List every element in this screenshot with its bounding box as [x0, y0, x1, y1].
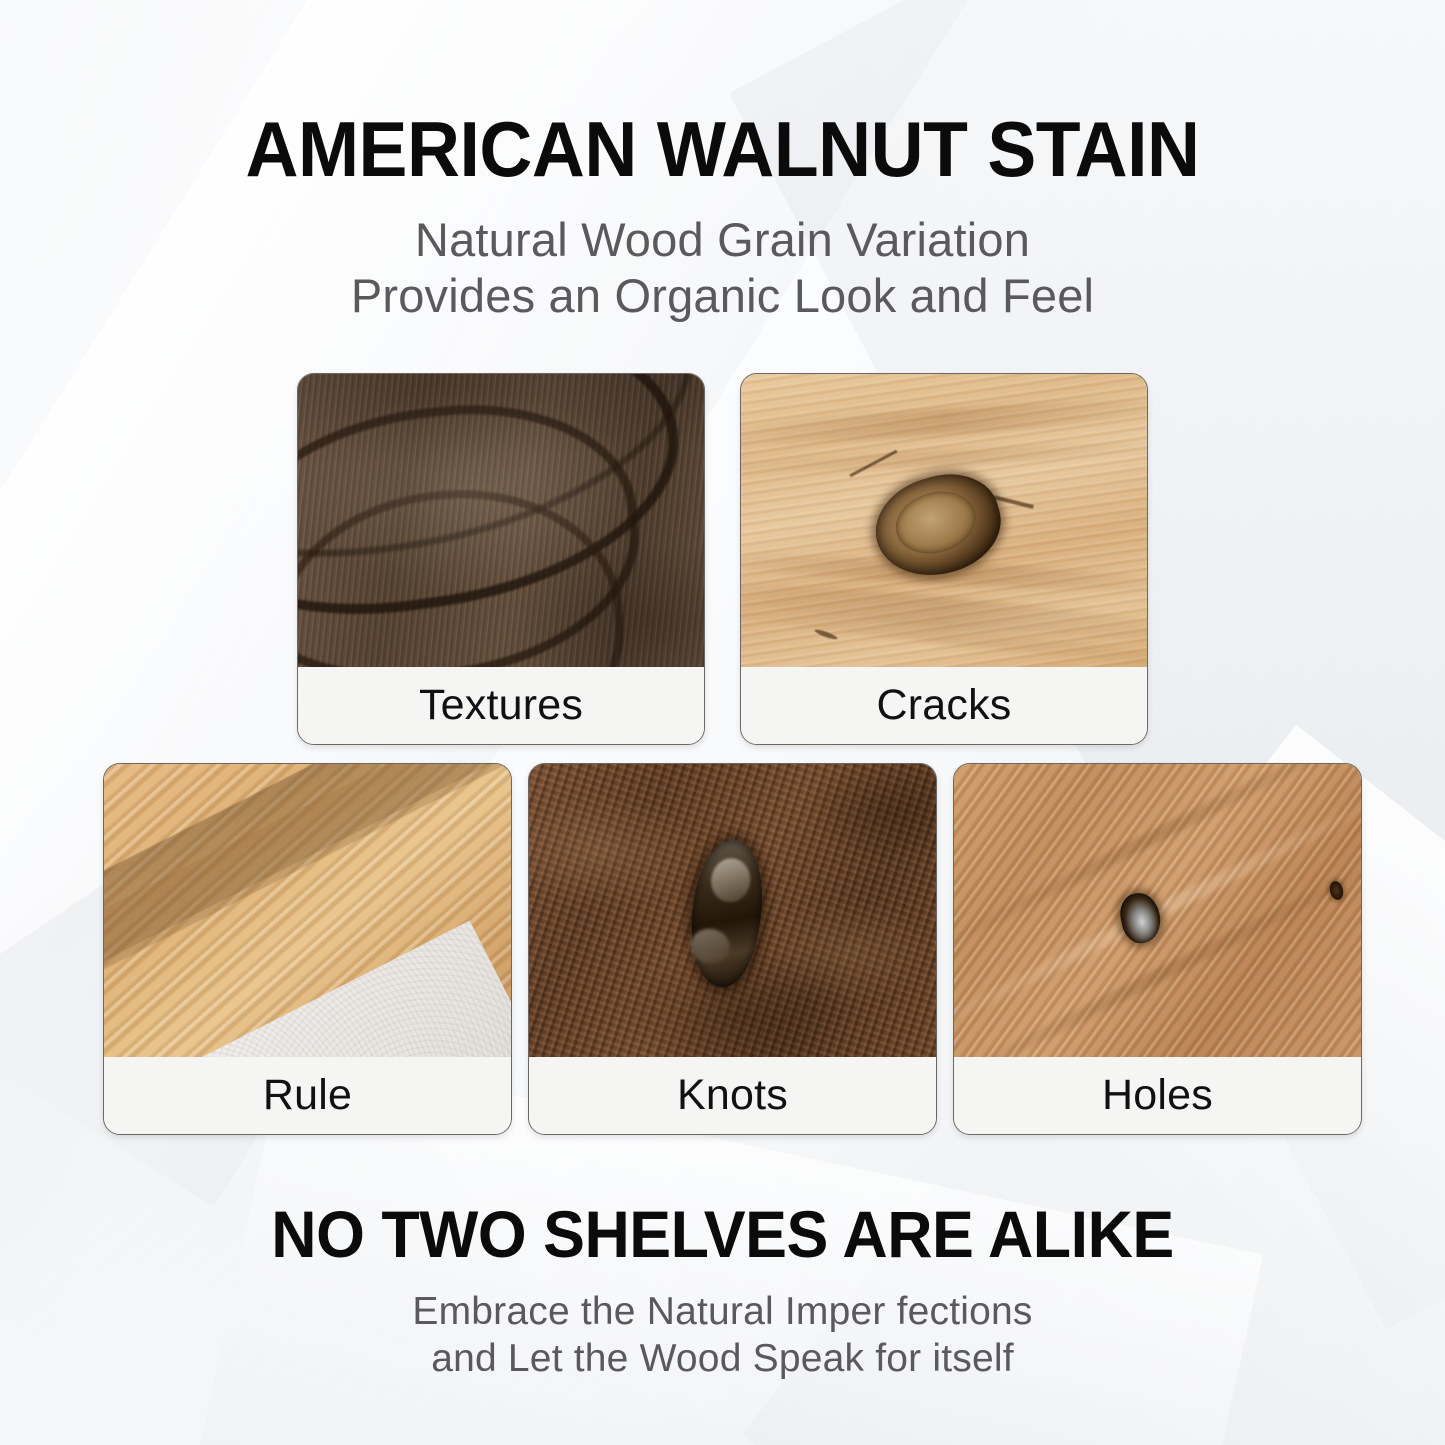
feature-card-holes[interactable]: Holes: [953, 763, 1362, 1135]
closing-title: NO TWO SHELVES ARE ALIKE: [36, 1196, 1409, 1272]
holes-photo: [954, 764, 1361, 1057]
feature-card-textures[interactable]: Textures: [297, 373, 705, 745]
subtitle-line-2: Provides an Organic Look and Feel: [0, 268, 1445, 324]
feature-card-cracks[interactable]: Cracks: [740, 373, 1148, 745]
knots-photo: [529, 764, 936, 1057]
closing-subtitle-line-1: Embrace the Natural Imper fections: [0, 1289, 1445, 1336]
subtitle-line-1: Natural Wood Grain Variation: [0, 212, 1445, 268]
closing-subtitle-line-2: and Let the Wood Speak for itself: [0, 1336, 1445, 1383]
cracks-photo: [741, 374, 1147, 667]
page-subtitle: Natural Wood Grain Variation Provides an…: [0, 212, 1445, 325]
card-label-cracks: Cracks: [741, 667, 1147, 744]
feature-card-rule[interactable]: Rule: [103, 763, 512, 1135]
card-label-rule: Rule: [104, 1057, 511, 1134]
infographic-page: AMERICAN WALNUT STAIN Natural Wood Grain…: [0, 0, 1445, 1445]
card-label-textures: Textures: [298, 667, 704, 744]
card-label-holes: Holes: [954, 1057, 1361, 1134]
textures-photo: [298, 374, 704, 667]
feature-card-knots[interactable]: Knots: [528, 763, 937, 1135]
page-title: AMERICAN WALNUT STAIN: [43, 104, 1401, 195]
card-label-knots: Knots: [529, 1057, 936, 1134]
closing-subtitle: Embrace the Natural Imper fections and L…: [0, 1289, 1445, 1383]
rule-photo: [104, 764, 511, 1057]
